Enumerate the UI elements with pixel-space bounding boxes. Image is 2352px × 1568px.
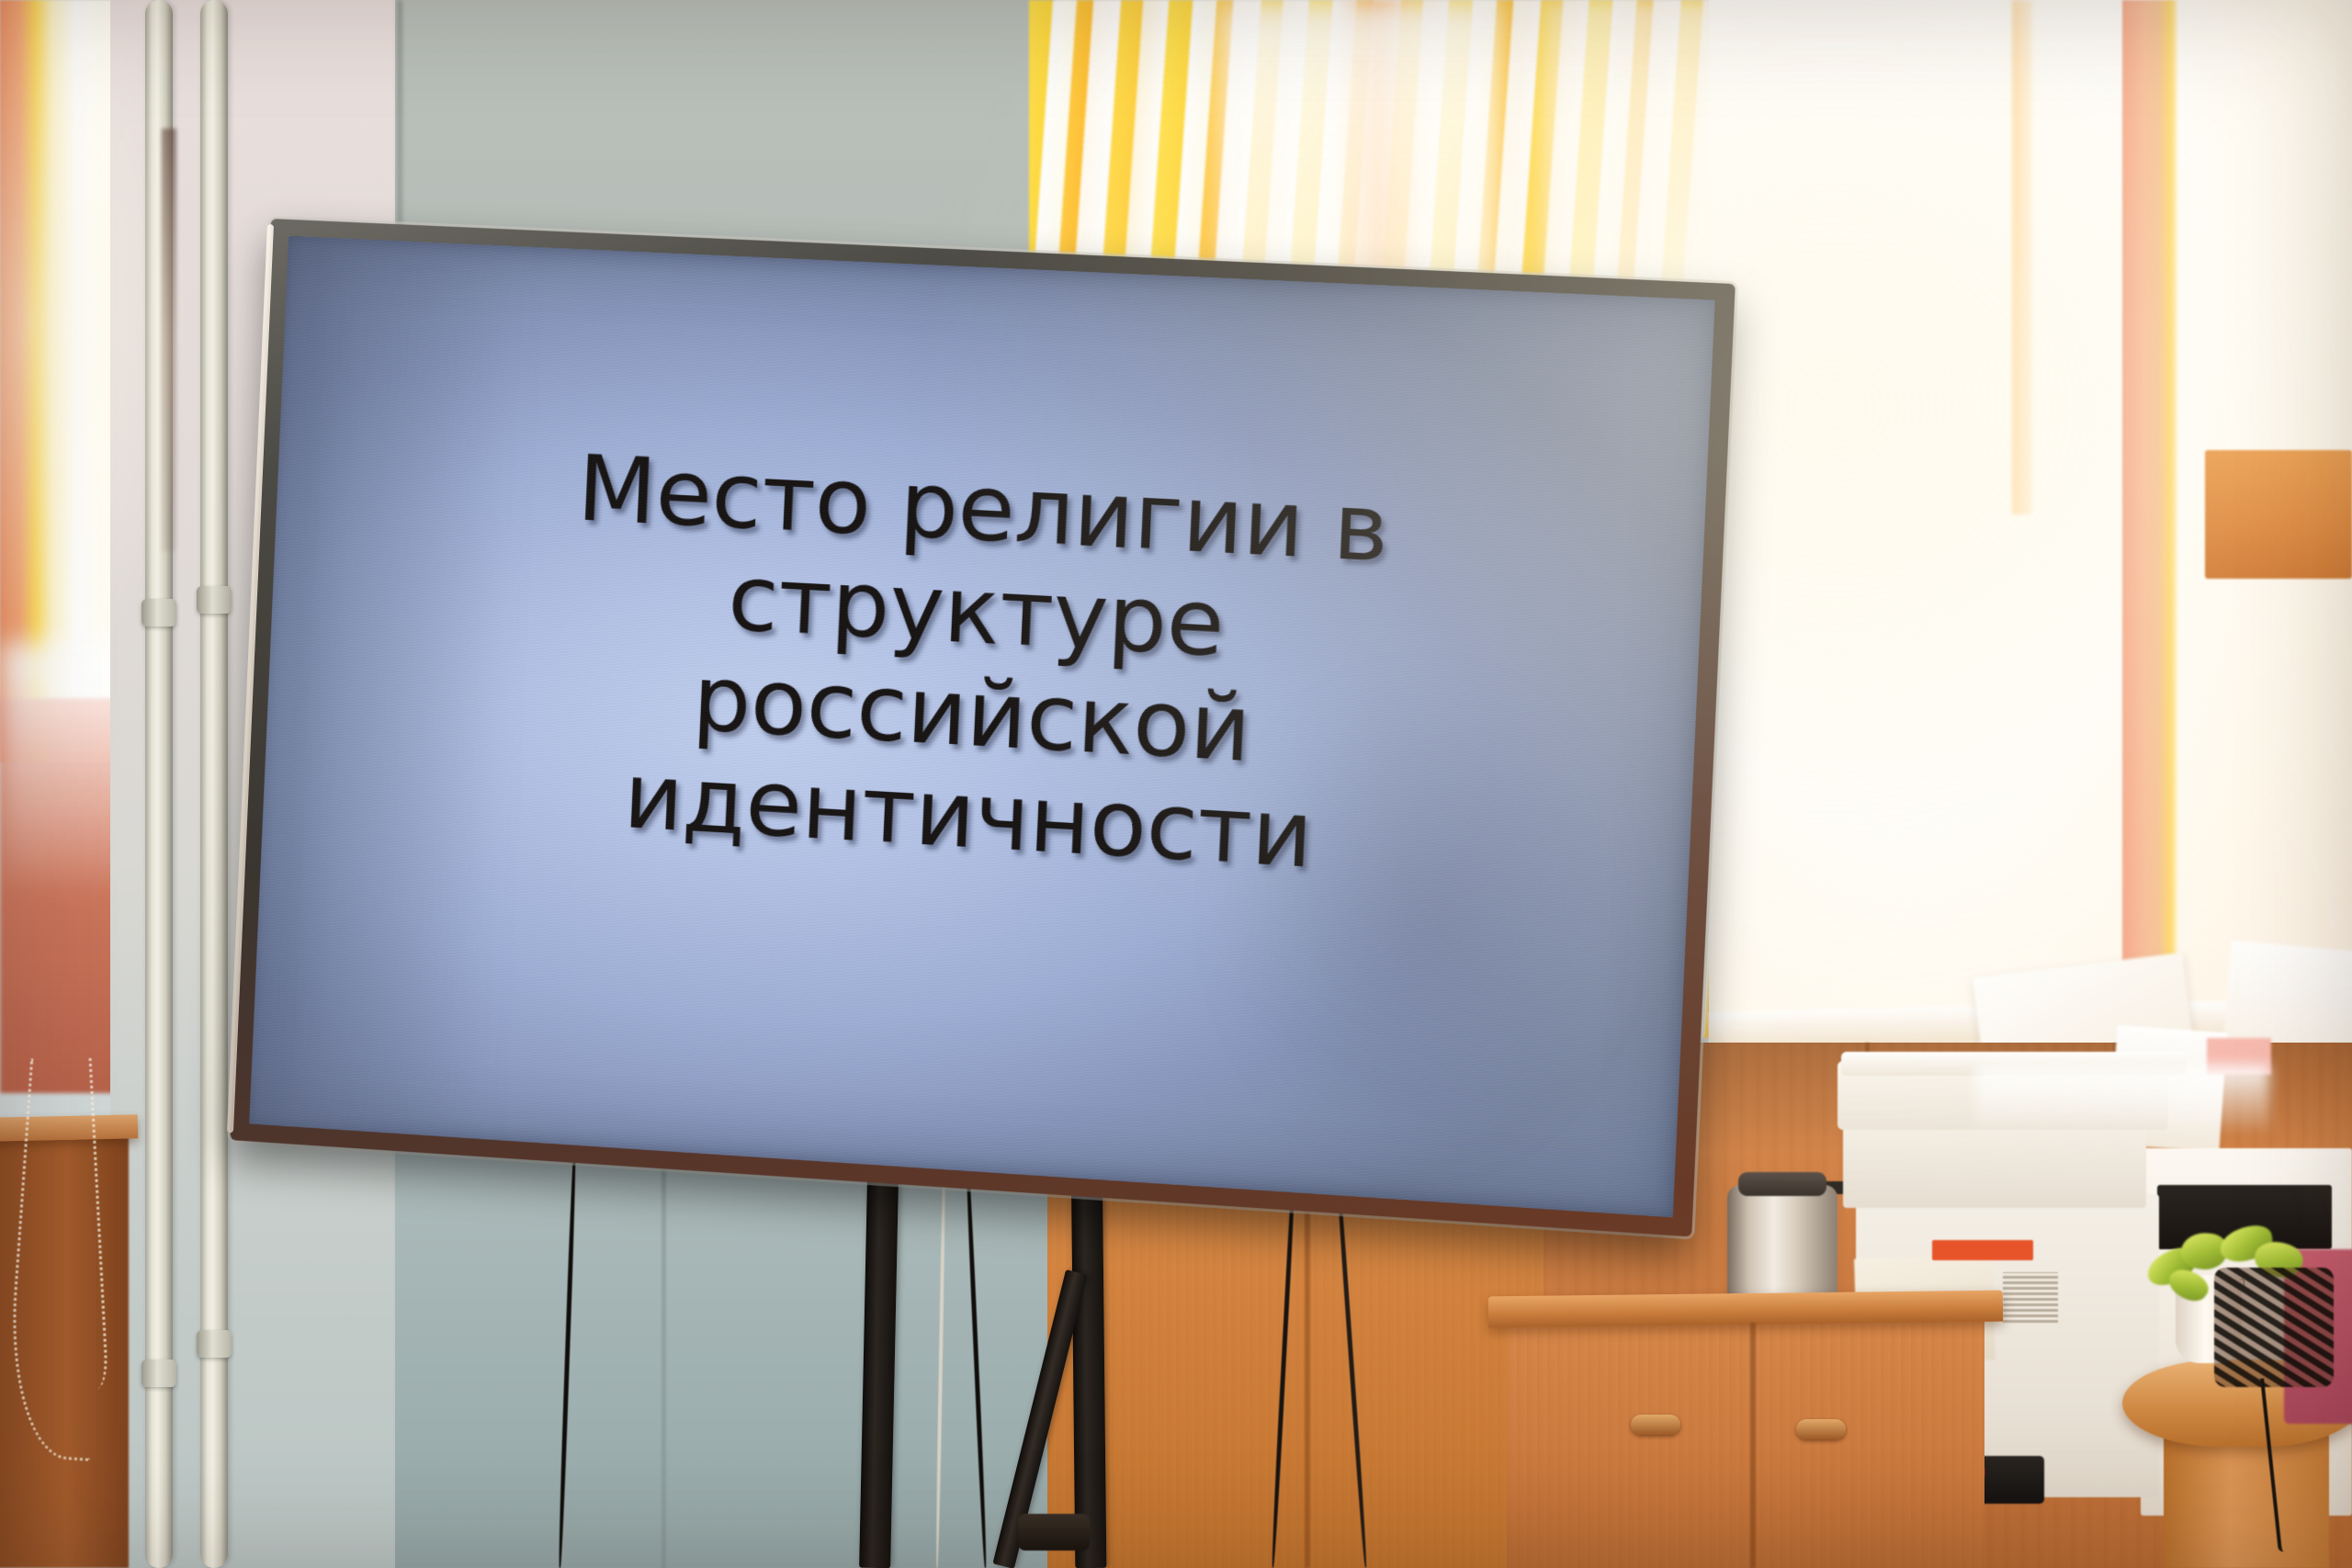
window-ledge xyxy=(2205,450,2352,579)
printer-vent-grille xyxy=(2003,1272,2058,1323)
tv-screen[interactable]: Место религии в структуре российской иде… xyxy=(249,236,1715,1218)
printer-orange-sticker xyxy=(1932,1240,2033,1260)
wooden-cabinet[interactable] xyxy=(1507,1314,1984,1568)
cabinet-knob-left[interactable] xyxy=(1631,1415,1680,1435)
pipe-joint-4 xyxy=(197,586,232,614)
slide-title-line-1: Место религии в структуре xyxy=(575,436,1391,678)
tv-bezel: Место религии в структуре российской иде… xyxy=(230,219,1735,1236)
pipe-rust-stain xyxy=(162,129,176,551)
window-mullion xyxy=(2012,0,2032,514)
photo-scene: Canon Место религии в структ xyxy=(0,0,2352,1568)
tv-stand-leg-right xyxy=(1071,1153,1107,1568)
cable-bundle xyxy=(2214,1268,2334,1387)
pipe-joint-2 xyxy=(197,1330,232,1358)
slide-title: Место религии в структуре российской иде… xyxy=(263,424,1706,911)
pipe-joint-1 xyxy=(141,1359,176,1387)
cabinet-knob-right[interactable] xyxy=(1796,1419,1846,1439)
kettle-lid xyxy=(1738,1172,1826,1196)
printer-mid-body xyxy=(1843,1116,2146,1208)
pipe-joint-3 xyxy=(141,599,176,626)
window-frame xyxy=(2122,0,2177,1010)
lower-wall-seam xyxy=(661,1157,666,1568)
cabinet-door-seam xyxy=(1750,1323,1756,1568)
printer-highlight xyxy=(1975,1066,2269,1130)
lower-wall xyxy=(395,1139,1066,1568)
cabinet-countertop xyxy=(1488,1291,2003,1328)
television[interactable]: Место религии в структуре российской иде… xyxy=(271,219,1690,1142)
slide-title-line-2: российской идентичности xyxy=(345,630,1608,906)
tv-stand-brace-joint xyxy=(1018,1514,1090,1551)
